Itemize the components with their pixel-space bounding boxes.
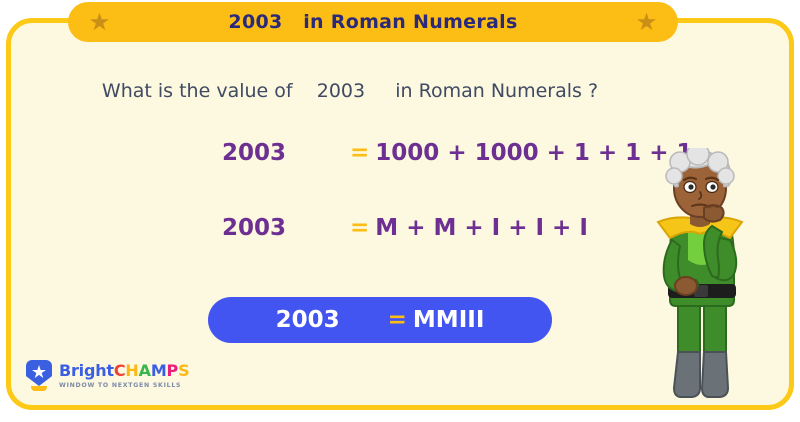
logo-letter-m: M [151,361,167,380]
logo-letter-a: A [139,361,151,380]
answer-box: 2003 = MMIII [208,297,552,343]
star-icon-left [90,13,109,32]
brightchamps-logo: BrightCHAMPS WINDOW TO NEXTGEN SKILLS [26,360,189,392]
logo-word-bright: Bright [59,361,114,380]
equation-2-lhs: 2003 [222,215,286,241]
shield-base [31,386,47,391]
logo-letter-c: C [114,361,126,380]
answer-lhs: 2003 [276,307,340,333]
equation-row-2: 2003 = M + M + I + I + I [222,215,588,241]
shield-star-icon [26,360,52,392]
header-banner: 2003 in Roman Numerals [68,2,678,42]
graphic-canvas: 2003 in Roman Numerals What is the value… [0,0,800,422]
answer-rhs: MMIII [413,307,484,333]
answer-equals: = [388,307,407,333]
star-icon-right [637,13,656,32]
equation-1-lhs: 2003 [222,140,286,166]
thinking-student-illustration [600,148,800,410]
logo-letter-h: H [125,361,138,380]
logo-text: BrightCHAMPS WINDOW TO NEXTGEN SKILLS [59,363,189,389]
equation-1-equals: = [350,140,369,166]
logo-letter-p: P [167,361,179,380]
logo-letter-s: S [178,361,189,380]
page-title: 2003 in Roman Numerals [109,11,637,33]
question-text: What is the value of 2003 in Roman Numer… [0,80,700,102]
logo-tagline: WINDOW TO NEXTGEN SKILLS [59,382,189,389]
equation-2-equals: = [350,215,369,241]
equation-2-rhs: M + M + I + I + I [375,215,588,241]
logo-wordmark: BrightCHAMPS [59,363,189,380]
